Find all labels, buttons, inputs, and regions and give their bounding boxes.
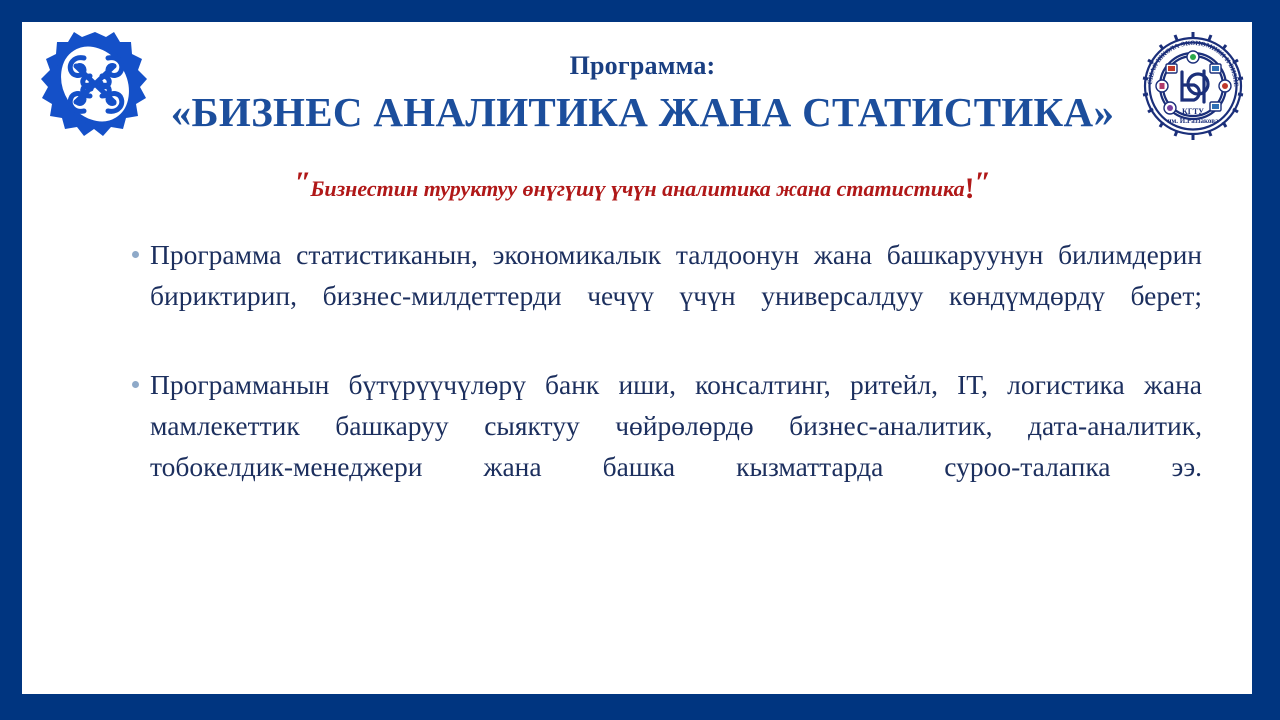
bullet-list: Программа статистиканын, экономикалык та…	[132, 234, 1202, 535]
slide-header: Программа: «БИЗНЕС АНАЛИТИКА ЖАНА СТАТИС…	[22, 22, 1252, 197]
list-item-text: Программа статистиканын, экономикалык та…	[150, 234, 1202, 357]
bullet-dot-icon	[132, 234, 150, 258]
tagline-text: Бизнестин туруктуу өнүгүшү үчүн аналитик…	[310, 176, 964, 201]
page-title: «БИЗНЕС АНАЛИТИКА ЖАНА СТАТИСТИКА»	[150, 87, 1135, 137]
title-block: Программа: «БИЗНЕС АНАЛИТИКА ЖАНА СТАТИС…	[150, 22, 1135, 137]
tagline-close-quote: ″	[975, 166, 991, 199]
program-label: Программа:	[150, 49, 1135, 83]
list-item: Программа статистиканын, экономикалык та…	[132, 234, 1202, 357]
tagline: ″Бизнестин туруктуу өнүгүшү үчүн аналити…	[150, 168, 1135, 204]
hseb-ktu-emblem-icon: ВЫСШАЯ ШКОЛА ЭКОНОМИКИ И БИЗНЕСА	[1140, 30, 1246, 142]
slide-canvas: Программа: «БИЗНЕС АНАЛИТИКА ЖАНА СТАТИС…	[22, 22, 1252, 694]
tagline-open-quote: ″	[295, 166, 311, 199]
svg-text:им. И.Раззакова: им. И.Раззакова	[1167, 117, 1219, 125]
tagline-exclamation: !	[965, 172, 975, 205]
list-item: Программанын бүтүрүүчүлөрү банк иши, кон…	[132, 364, 1202, 528]
kyrgyz-ornament-gear-logo-icon	[38, 28, 152, 146]
list-item-text: Программанын бүтүрүүчүлөрү банк иши, кон…	[150, 364, 1202, 528]
slide-root: Программа: «БИЗНЕС АНАЛИТИКА ЖАНА СТАТИС…	[0, 0, 1280, 720]
bullet-dot-icon	[132, 364, 150, 388]
svg-text:КГТУ: КГТУ	[1182, 107, 1204, 116]
